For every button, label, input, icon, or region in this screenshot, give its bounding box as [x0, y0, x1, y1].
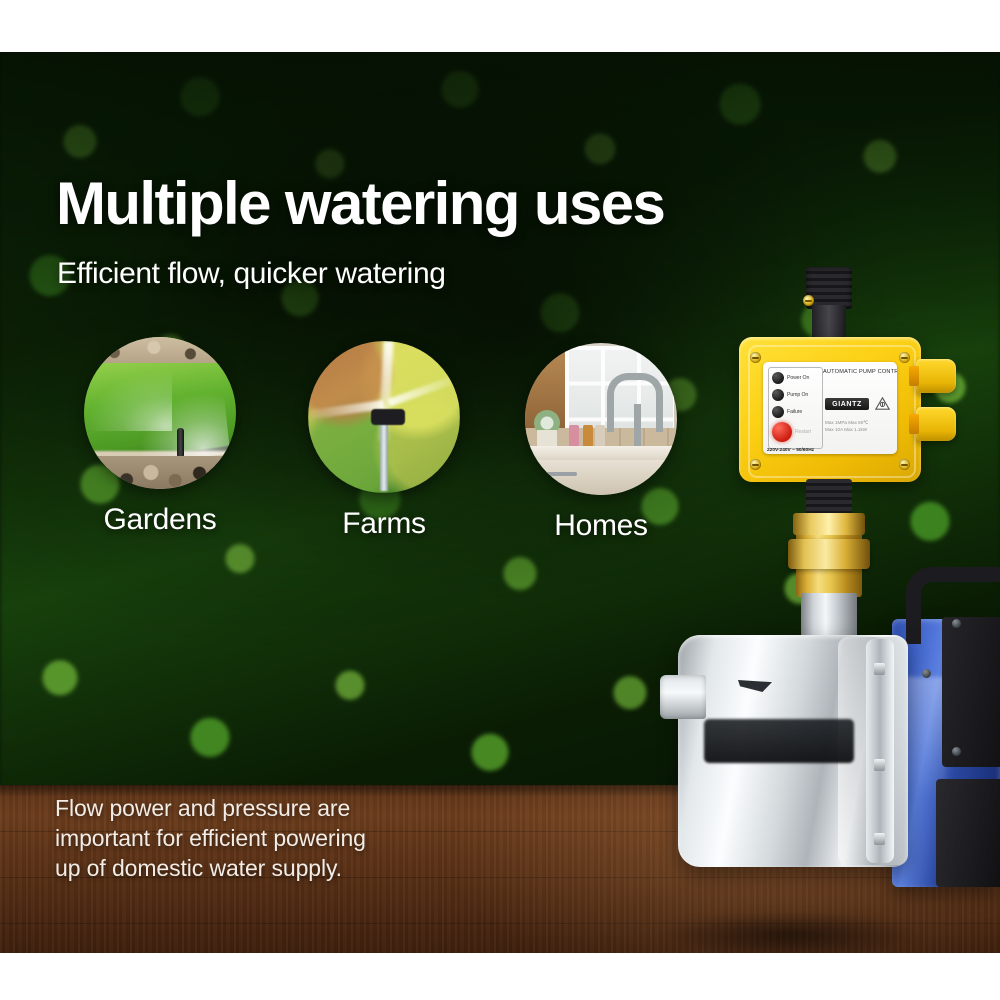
controller-spec: Max 1MPa Max 60℃ Max 10A Max 1.1kW — [825, 420, 868, 433]
screw-icon — [803, 295, 814, 306]
inlet-neck — [812, 305, 846, 341]
use-case-label: Gardens — [84, 503, 236, 537]
marketing-banner: Multiple watering uses Efficient flow, q… — [0, 0, 1000, 1000]
restart-led-icon[interactable] — [772, 422, 792, 442]
brass-hex-nut-upper — [793, 513, 865, 535]
screw-icon — [899, 352, 910, 363]
flange-bolt-icon — [874, 833, 885, 845]
cable-gland-icon — [916, 407, 956, 441]
screw-icon — [922, 669, 931, 678]
led-icon — [772, 406, 784, 418]
brand-logo: GIANTZ — [825, 398, 869, 410]
photo-plate: Multiple watering uses Efficient flow, q… — [0, 52, 1000, 953]
pump-inlet-port — [660, 675, 706, 719]
brass-hex-nut-lower — [788, 539, 870, 569]
brand-name: GIANTZ — [832, 401, 862, 408]
spec-line-1: Max 1MPa Max 60℃ — [825, 420, 868, 427]
use-case-homes: Homes — [525, 343, 677, 543]
use-case-label: Homes — [525, 509, 677, 543]
indicator-label: Power On — [787, 375, 809, 381]
use-case-gardens: Gardens — [84, 337, 236, 537]
use-case-label: Farms — [308, 507, 460, 541]
indicator-failure: Failure — [772, 406, 802, 418]
controller-voltage: 220V-240V ~ 50/60Hz — [767, 448, 814, 453]
regulatory-compliance-triangle-icon — [875, 397, 890, 410]
restart-label: Restart — [795, 429, 811, 435]
flange-bolt-icon — [874, 663, 885, 675]
use-case-farms: Farms — [308, 341, 460, 541]
indicator-panel: Power On Pump On Failure Restart — [768, 367, 823, 449]
indicator-label: Failure — [787, 409, 802, 415]
screw-icon — [899, 459, 910, 470]
controller-label: Power On Pump On Failure Restart — [763, 362, 897, 454]
screw-icon — [750, 459, 761, 470]
cable-gland-icon — [916, 359, 956, 393]
screw-icon — [750, 352, 761, 363]
pump-cast-shadow — [660, 912, 920, 953]
farms-image — [308, 341, 460, 493]
carry-handle — [906, 567, 1000, 644]
screw-icon — [952, 747, 961, 756]
screw-icon — [952, 619, 961, 628]
page-title: Multiple watering uses — [56, 174, 816, 234]
use-case-group: Gardens Farms — [0, 337, 700, 597]
indicator-pump-on: Pump On — [772, 389, 808, 401]
body-paragraph: Flow power and pressure are important fo… — [55, 794, 385, 884]
restart-button[interactable]: Restart — [772, 422, 811, 442]
led-icon — [772, 389, 784, 401]
controller-title: AUTOMATIC PUMP CONTROL — [823, 369, 897, 375]
indicator-label: Pump On — [787, 392, 808, 398]
housing-dark-band — [704, 719, 854, 763]
led-icon — [772, 372, 784, 384]
page-subtitle: Efficient flow, quicker watering — [57, 257, 757, 290]
gardens-image — [84, 337, 236, 489]
indicator-power-on: Power On — [772, 372, 809, 384]
homes-image — [525, 343, 677, 495]
motor-end-cover-lower — [936, 779, 1000, 887]
product-pump-assembly: Power On Pump On Failure Restart — [660, 267, 1000, 907]
flange-bolt-icon — [874, 759, 885, 771]
spec-line-2: Max 10A Max 1.1kW — [825, 427, 868, 434]
